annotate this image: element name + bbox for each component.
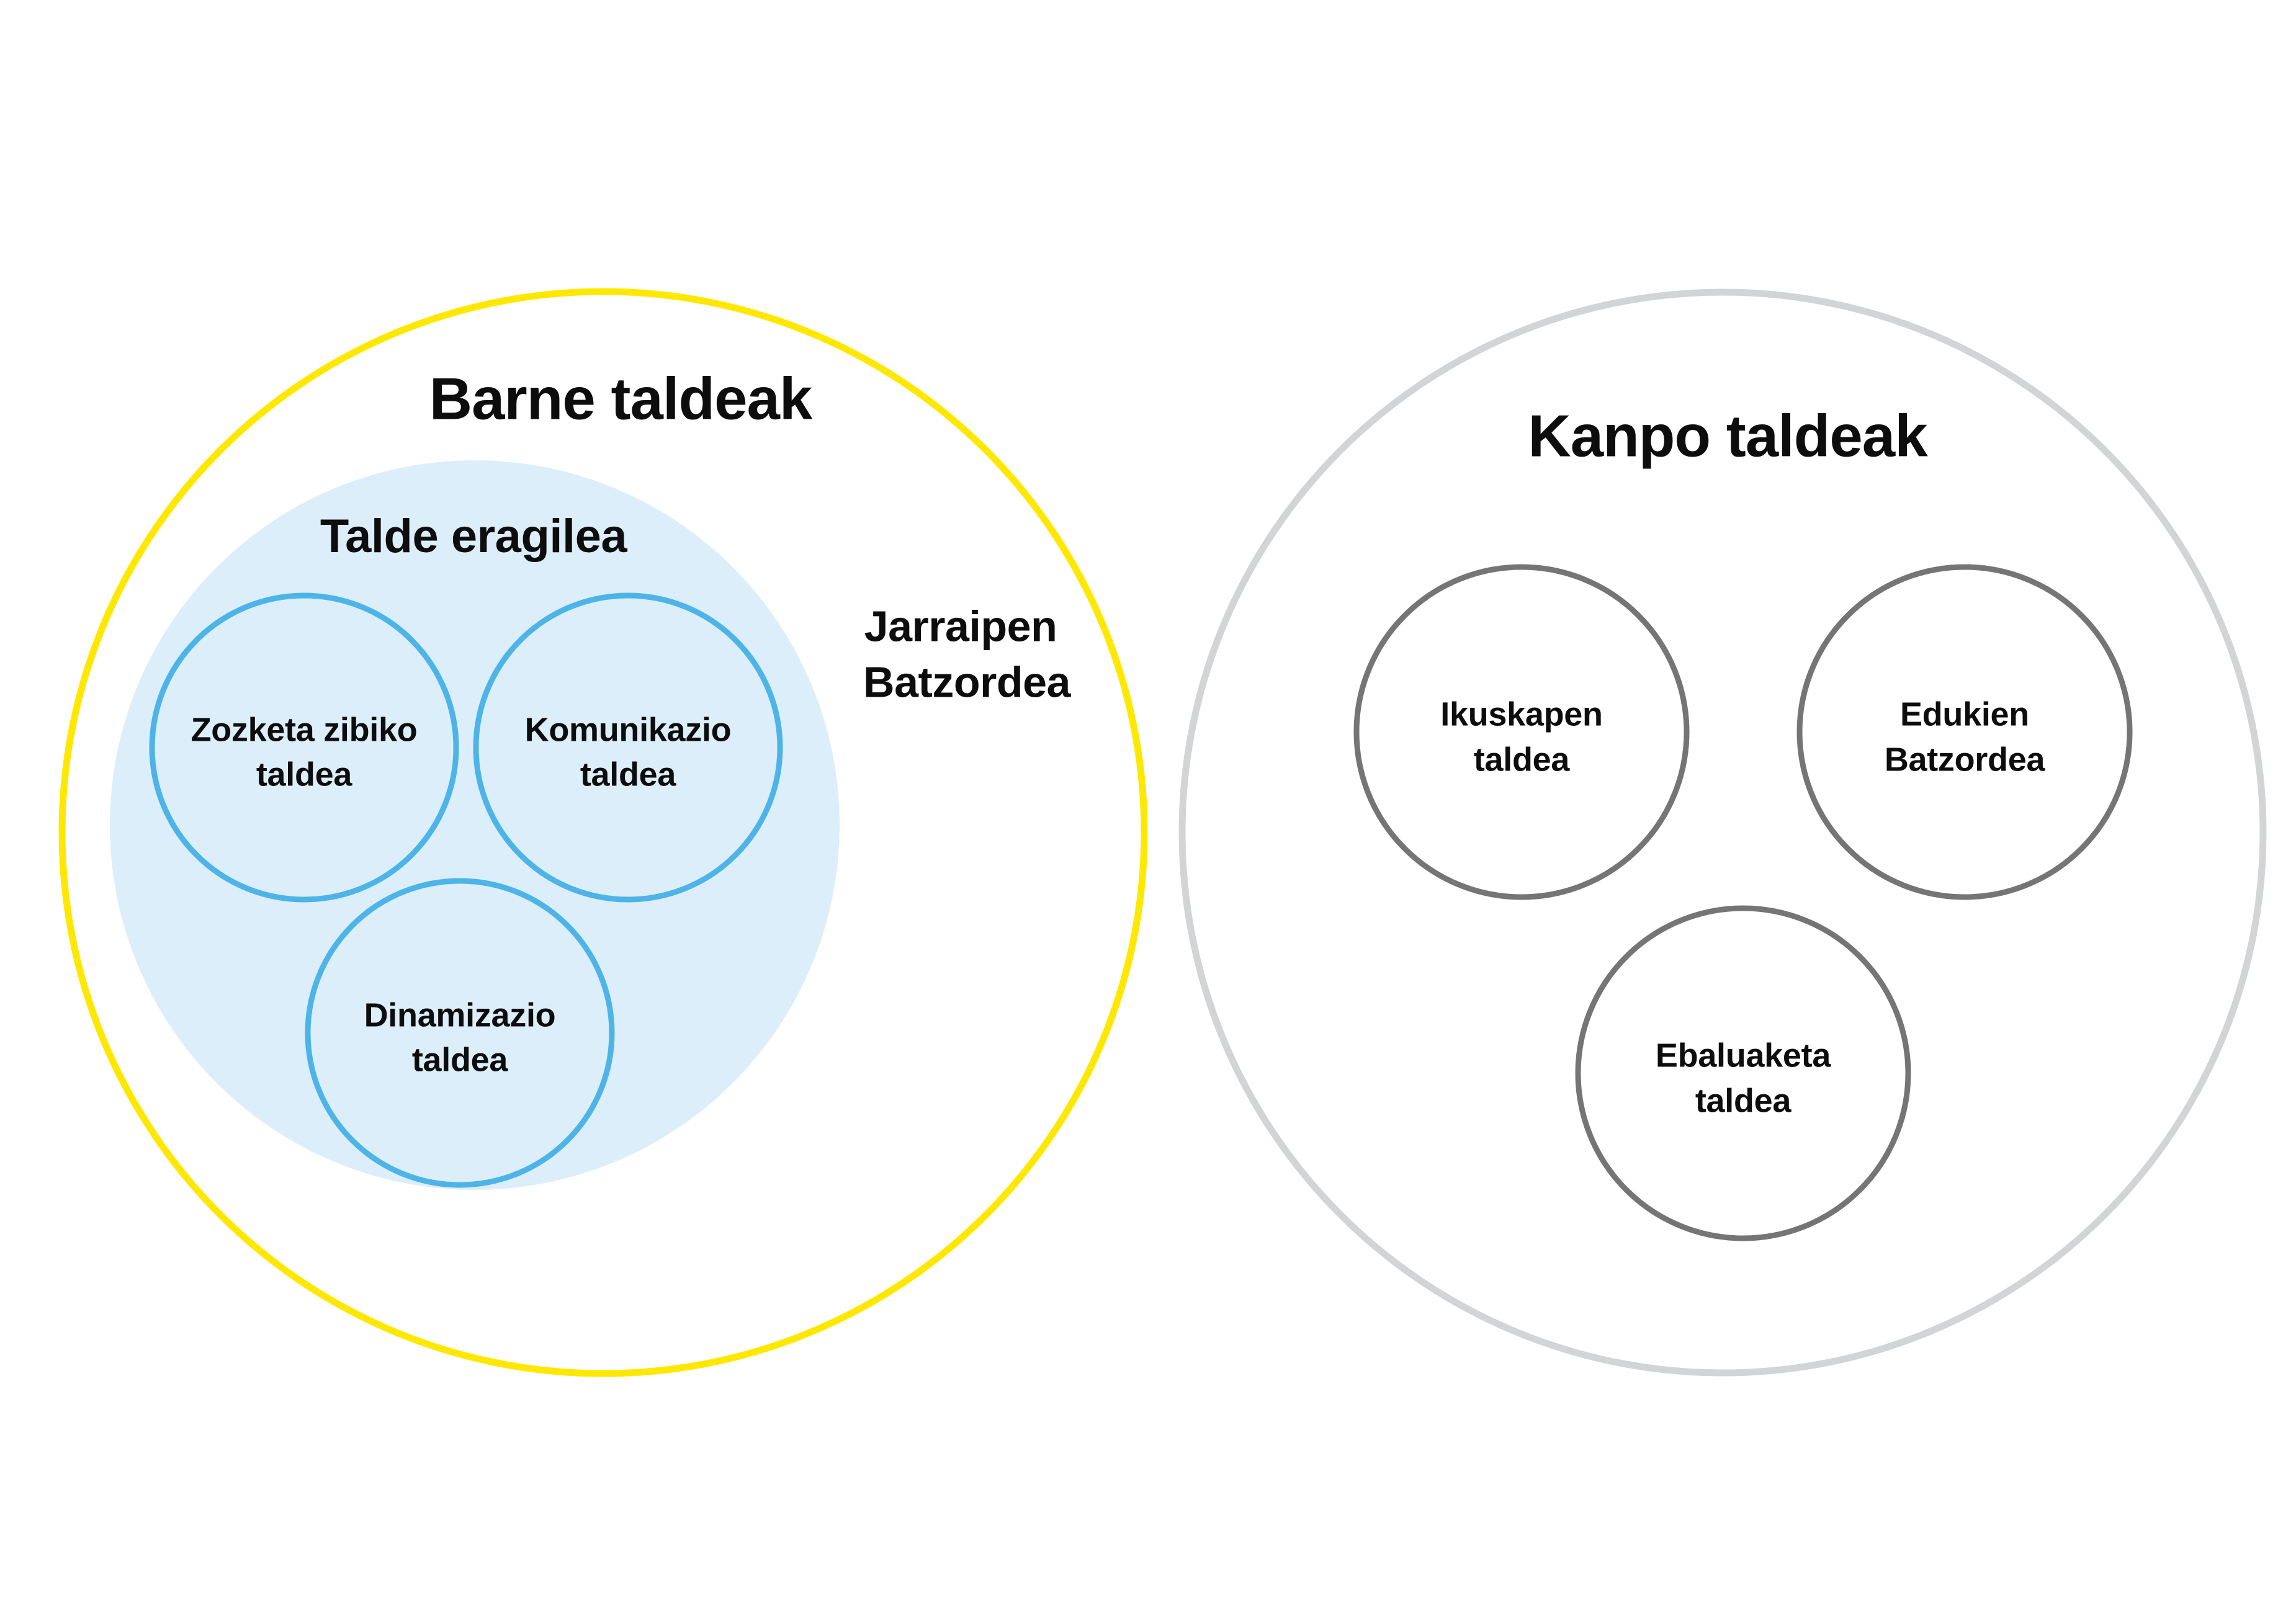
org-structure-venn-diagram: Barne taldeak Talde eragilea Jarraipen B… <box>0 0 2296 1608</box>
external-groups-cluster: Kanpo taldeak Ikuskapen taldea Edukien B… <box>1182 292 2263 1373</box>
diagram-root: Barne taldeak Talde eragilea Jarraipen B… <box>0 0 2296 1608</box>
external-team-label-1-line1: Edukien <box>1900 695 2029 733</box>
jarraipen-batzordea-label-line2: Batzordea <box>863 658 1071 706</box>
internal-team-label-2-line2: taldea <box>412 1041 509 1078</box>
external-team-label-1-line2: Batzordea <box>1885 741 2046 778</box>
internal-team-label-0-line1: Zozketa zibiko <box>191 711 418 748</box>
external-team-label-2-line1: Ebaluaketa <box>1656 1037 1831 1074</box>
external-team-ikuskapen[interactable]: Ikuskapen taldea <box>1357 567 1687 897</box>
external-team-label-0-line2: taldea <box>1474 741 1571 778</box>
internal-team-label-0-line2: taldea <box>256 756 353 793</box>
external-title: Kanpo taldeak <box>1528 403 1928 469</box>
external-team-ebaluaketa[interactable]: Ebaluaketa taldea <box>1578 908 1908 1238</box>
internal-team-label-1-line1: Komunikazio <box>525 711 732 748</box>
talde-eragilea-circle[interactable] <box>110 460 840 1190</box>
talde-eragilea-label: Talde eragilea <box>320 510 628 563</box>
internal-team-label-1-line2: taldea <box>580 756 677 793</box>
internal-title: Barne taldeak <box>429 365 813 432</box>
internal-groups-cluster: Barne taldeak Talde eragilea Jarraipen B… <box>62 292 1144 1373</box>
external-team-label-0-line1: Ikuskapen <box>1440 695 1602 733</box>
internal-team-label-2-line1: Dinamizazio <box>364 996 556 1034</box>
external-team-label-2-line2: taldea <box>1695 1082 1792 1119</box>
jarraipen-batzordea-label-line1: Jarraipen <box>864 602 1057 650</box>
external-team-edukien[interactable]: Edukien Batzordea <box>1800 567 2130 897</box>
